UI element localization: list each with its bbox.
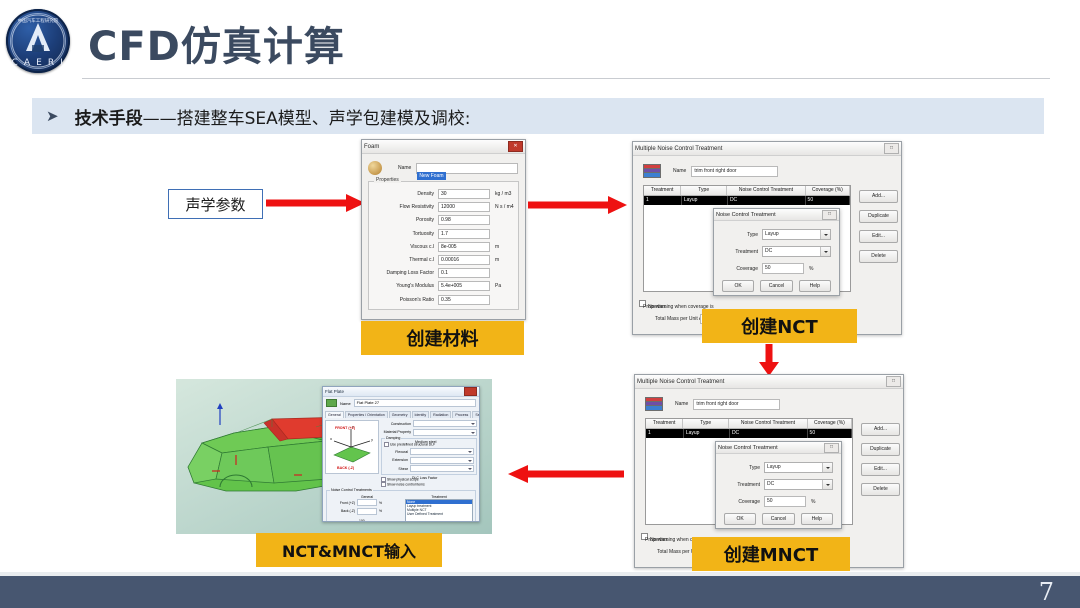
cell-nct: DC [730, 429, 808, 438]
cell-nct: DC [728, 196, 806, 205]
show-nct-items-check[interactable]: Show noise control items [381, 482, 477, 487]
flexural-row: Flexural DLC Loss Factor [384, 448, 474, 455]
flat-plate-name-label: Name [340, 401, 351, 406]
flat-plate-dialog[interactable]: Flat Plate Name Flat Plate 27 General Pr… [322, 386, 480, 522]
foam-properties-label: Properties [374, 177, 401, 183]
checkbox-icon[interactable] [384, 442, 389, 447]
col-header-treatment: Treatment [646, 419, 683, 428]
nct-type-label: Type [722, 232, 762, 238]
cell-treatment: 1 [644, 196, 682, 205]
subtitle-rest: ——搭建整车SEA模型、声学包建模及调校: [143, 109, 471, 129]
nct-treatment-label: Treatment [722, 249, 762, 255]
damping-group: Damping Use predefined structural DLF Fl… [381, 438, 477, 476]
help-button[interactable]: Help [801, 513, 833, 525]
foam-name-input[interactable]: New Foam [416, 163, 518, 174]
cell-coverage: 50 [806, 196, 850, 205]
subtitle-bar: ➤ 技术手段——搭建整车SEA模型、声学包建模及调校: [32, 98, 1044, 134]
foam-dialog-titlebar: Foam ✕ [362, 140, 525, 154]
mnct-name-value: trim front right door [694, 400, 779, 408]
field-unit: m [490, 244, 499, 250]
foam-name-label: Name [398, 165, 411, 171]
cell-type: Layup [682, 196, 728, 205]
show-nct-items-label: Show noise control items [387, 482, 425, 486]
col-header-nct: Noise Control Treatment [729, 419, 808, 428]
nct-coverage-value: 50 [765, 497, 805, 506]
field-unit: kg / m3 [490, 191, 511, 197]
back-coverage-unit: % [379, 509, 382, 513]
close-icon[interactable]: ✕ [508, 141, 523, 152]
nct-coverage-label: Coverage [722, 266, 762, 272]
material-property-row: Material Property Medium steel [381, 429, 477, 436]
front-coverage-unit: % [379, 501, 382, 505]
extension-row: Extension DLC Loss Factor [384, 457, 474, 464]
mnct-side-buttons: Add... Duplicate Edit... Delete [861, 423, 900, 496]
svg-text:C A E R I: C A E R I [12, 58, 65, 68]
bullet-arrow-icon: ➤ [46, 107, 59, 125]
callout-create-nct: 创建NCT [702, 309, 857, 343]
nct-dialog-title: Noise Control Treatment [718, 445, 778, 451]
subtitle-strong: 技术手段 [75, 109, 143, 129]
ok-button[interactable]: OK [724, 513, 756, 525]
field-label: Poisson's Ratio [372, 297, 438, 303]
add-button[interactable]: Add... [861, 423, 900, 436]
plate-icon [326, 399, 337, 407]
flat-plate-nct-group: Noise Control Treatments General Front (… [326, 490, 476, 522]
damping-check[interactable]: Use predefined structural DLF [384, 442, 474, 447]
field-value: 8e-005 [439, 243, 489, 251]
damping-check-label: Use predefined structural DLF [390, 442, 435, 446]
callout-create-material: 创建材料 [361, 321, 524, 355]
mnct-dialog-titlebar: Multiple Noise Control Treatment □ [633, 142, 901, 156]
foam-field-row: Young's Modulus 5.4e+005 Pa [372, 281, 515, 291]
mnct-dialog-titlebar: Multiple Noise Control Treatment □ [635, 375, 903, 389]
field-label: Young's Modulus [372, 283, 438, 289]
edit-button[interactable]: Edit... [861, 463, 900, 476]
field-value: 0.35 [439, 296, 489, 304]
construction-row: Construction Isotropic [381, 420, 477, 427]
foam-field-row: Flow Resistivity 12000 N s / m4 [372, 202, 515, 212]
cancel-button[interactable]: Cancel [760, 280, 792, 292]
col-header-type: Type [681, 186, 727, 195]
shear-select[interactable]: DLC Loss Factor [410, 465, 474, 472]
arrow-down-1 [757, 344, 781, 376]
callout-create-mnct: 创建MNCT [692, 537, 850, 571]
tab-geometry[interactable]: Geometry [389, 411, 411, 418]
nct-type-row: Type Layup [724, 462, 833, 473]
nct-coverage-row: Coverage 50 % [722, 263, 831, 274]
field-input[interactable]: 0.35 [438, 295, 490, 305]
front-axis-label: FRONT (+Z) [335, 426, 355, 430]
shear-label: Shear [384, 467, 410, 471]
nct-dialog-title: Noise Control Treatment [716, 212, 776, 218]
tab-process[interactable]: Process [452, 411, 471, 418]
field-input[interactable]: 0.00016 [438, 255, 490, 265]
foam-dialog[interactable]: Foam ✕ Name New Foam Properties Density … [361, 139, 526, 320]
flat-plate-title: Flat Plate [325, 389, 344, 394]
mnct-name-value: trim front right door [692, 167, 777, 175]
mnct-dialog-title: Multiple Noise Control Treatment [637, 379, 724, 385]
ok-button[interactable]: OK [722, 280, 754, 292]
col-header-coverage: Coverage (%) [808, 419, 852, 428]
nct-button-row: OK Cancel Help [722, 280, 831, 292]
nct-treatment-row: Treatment DC [724, 479, 833, 490]
tab-radiation[interactable]: Radiation [430, 411, 451, 418]
flexural-select[interactable]: DLC Loss Factor [410, 448, 474, 455]
field-unit: Pa [490, 283, 501, 289]
nct-type-select[interactable]: Layup [762, 229, 831, 240]
nct-coverage-row: Coverage 50 % [724, 496, 833, 507]
flat-plate-name-value: Flat Plate 27 [355, 400, 475, 406]
table-row[interactable]: 1 Layup DC 50 [646, 429, 852, 438]
restore-icon[interactable]: □ [824, 443, 839, 453]
mnct-dialog-1[interactable]: Multiple Noise Control Treatment □ Name … [632, 141, 902, 335]
nct-button-row: OK Cancel Help [724, 513, 833, 525]
field-value: 12000 [439, 203, 489, 211]
front-coverage-row: Front (+Z) 100 % [329, 499, 405, 506]
nct-dialog-2[interactable]: Noise Control Treatment □ Type Layup Tre… [715, 441, 842, 529]
construction-select[interactable]: Isotropic [413, 420, 477, 427]
tab-properties-orientation[interactable]: Properties / Orientation [345, 411, 388, 418]
flat-plate-name-input[interactable]: Flat Plate 27 [354, 399, 476, 407]
edit-button[interactable]: Edit... [859, 230, 898, 243]
add-button[interactable]: Add... [859, 190, 898, 203]
cancel-button[interactable]: Cancel [762, 513, 794, 525]
slide: C A E R I 中国汽车工程研究院 CFD仿真计算 ➤ 技术手段——搭建整车… [0, 0, 1080, 608]
nct-coverage-unit: % [811, 499, 815, 505]
back-coverage-input[interactable]: 100 [357, 508, 377, 515]
acoustic-parameters-box: 声学参数 [168, 189, 263, 219]
flexural-label: Flexural [384, 450, 410, 454]
flat-plate-nct-group-label: Noise Control Treatments [330, 488, 373, 492]
field-unit: m [490, 257, 499, 263]
delete-button[interactable]: Delete [859, 250, 898, 263]
col-header-nct: Noise Control Treatment [727, 186, 806, 195]
nct-dialog-titlebar: Noise Control Treatment □ [714, 209, 839, 221]
restore-icon[interactable]: □ [822, 210, 837, 220]
mnct-name-label: Name [673, 168, 686, 174]
header-divider [82, 78, 1050, 79]
nct-coverage-unit: % [809, 266, 813, 272]
restore-icon[interactable]: □ [884, 143, 899, 154]
restore-icon[interactable]: □ [886, 376, 901, 387]
help-button[interactable]: Help [799, 280, 831, 292]
field-input[interactable]: 0.1 [438, 268, 490, 278]
page-number: 7 [1039, 578, 1054, 606]
back-coverage-row: Back (-Z) 100 % [329, 508, 405, 515]
nct-treatment-select[interactable]: DC [764, 479, 833, 490]
extension-label: Extension [384, 458, 410, 462]
treatment-listbox[interactable]: None Layup treatment Multiple NCT User D… [405, 499, 473, 522]
arrow-right-2 [528, 194, 628, 216]
shear-value: DLC Loss Factor [411, 476, 437, 480]
nct-treatment-label: Treatment [724, 482, 764, 488]
page-title: CFD仿真计算 [88, 14, 345, 72]
nct-type-label: Type [724, 465, 764, 471]
shear-row: Shear DLC Loss Factor [384, 465, 474, 472]
field-unit: N s / m4 [490, 204, 514, 210]
slide-header: C A E R I 中国汽车工程研究院 CFD仿真计算 [0, 0, 1080, 84]
mnct-name-label: Name [675, 401, 688, 407]
table-header-row: Treatment Type Noise Control Treatment C… [644, 186, 850, 196]
total-mass-label: Total Mass per Unit Area [655, 317, 697, 322]
foam-dialog-title: Foam [364, 144, 379, 150]
field-input[interactable]: 8e-005 [438, 242, 490, 252]
foam-dialog-body: Name New Foam Properties Density 30 kg /… [362, 154, 525, 314]
field-value: 0.98 [439, 216, 489, 224]
nct-treatment-row: Treatment DC [722, 246, 831, 257]
checkbox-icon[interactable] [381, 482, 386, 487]
list-item[interactable]: User Defined Treatment [406, 512, 472, 516]
callout-nct-mnct-input: NCT&MNCT输入 [256, 533, 442, 567]
mnct-properties-label: Properties [645, 537, 668, 543]
cell-coverage: 50 [808, 429, 852, 438]
field-input[interactable]: 12000 [438, 202, 490, 212]
mnct-properties-label: Properties [643, 304, 666, 310]
field-label: Tortuosity [372, 231, 438, 237]
back-axis-label: BACK (-Z) [337, 466, 354, 470]
nct-dialog-1[interactable]: Noise Control Treatment □ Type Layup Tre… [713, 208, 840, 296]
foam-field-row: Porosity 0.98 [372, 215, 515, 225]
duplicate-button[interactable]: Duplicate [861, 443, 900, 456]
slide-footer: 7 [0, 576, 1080, 608]
mnct-side-buttons: Add... Duplicate Edit... Delete [859, 190, 898, 263]
nct-coverage-value: 50 [763, 264, 803, 273]
nct-treatment-select[interactable]: DC [762, 246, 831, 257]
foam-field-row: Poisson's Ratio 0.35 [372, 295, 515, 305]
arrow-left-1 [504, 462, 624, 486]
field-input[interactable]: 0.98 [438, 215, 490, 225]
svg-text:y: y [371, 438, 374, 442]
material-property-select[interactable]: Medium steel [413, 429, 477, 436]
nct-type-row: Type Layup [722, 229, 831, 240]
duplicate-button[interactable]: Duplicate [859, 210, 898, 223]
plate-orientation-preview: z y x FRONT (+Z) BACK (-Z) [325, 420, 379, 474]
layup-stack-icon [643, 164, 659, 178]
layup-stack-icon [645, 397, 661, 411]
field-value: 5.4e+005 [439, 282, 489, 290]
col-header-type: Type [683, 419, 729, 428]
mnct-name-input[interactable]: trim front right door [693, 399, 780, 410]
foam-name-value: New Foam [417, 172, 445, 180]
field-label: Density [372, 191, 438, 197]
extension-select[interactable]: DLC Loss Factor [410, 457, 474, 464]
foam-field-row: Thermal c.l 0.00016 m [372, 255, 515, 265]
nct-type-select[interactable]: Layup [764, 462, 833, 473]
cell-type: Layup [684, 429, 730, 438]
flat-plate-titlebar: Flat Plate [323, 387, 479, 397]
mnct-dialog-title: Multiple Noise Control Treatment [635, 146, 722, 152]
nct-coverage-input[interactable]: 50 [762, 263, 804, 274]
field-input[interactable]: 30 [438, 189, 490, 199]
field-value: 30 [439, 190, 489, 198]
table-row[interactable]: 1 Layup DC 50 [644, 196, 850, 205]
field-value: 0.00016 [439, 256, 489, 264]
cell-treatment: 1 [646, 429, 684, 438]
nct-coverage-input[interactable]: 50 [764, 496, 806, 507]
arrow-right-1 [266, 192, 366, 214]
svg-text:中国汽车工程研究院: 中国汽车工程研究院 [18, 17, 59, 24]
close-icon[interactable] [464, 387, 477, 396]
flat-plate-tabs: General Properties / Orientation Geometr… [323, 409, 479, 418]
damping-label: Damping [385, 436, 401, 440]
subtitle-text: 技术手段——搭建整车SEA模型、声学包建模及调校: [75, 104, 471, 129]
field-label: Thermal c.l [372, 257, 438, 263]
tab-general[interactable]: General [325, 411, 344, 418]
caeri-logo-icon: C A E R I 中国汽车工程研究院 [6, 9, 70, 73]
field-value: 0.1 [439, 269, 489, 277]
mnct-name-input[interactable]: trim front right door [691, 166, 778, 177]
field-input[interactable]: 5.4e+005 [438, 281, 490, 291]
material-property-label: Material Property [381, 430, 413, 434]
foam-field-row: Tortuosity 1.7 [372, 229, 515, 239]
nct-dialog-titlebar: Noise Control Treatment □ [716, 442, 841, 454]
table-header-row: Treatment Type Noise Control Treatment C… [646, 419, 852, 429]
svg-text:x: x [330, 437, 333, 441]
tab-setflows[interactable]: Setflows [472, 411, 480, 418]
construction-label: Construction [381, 422, 413, 426]
foam-properties-group: Properties Density 30 kg / m3 Flow Resis… [368, 181, 519, 310]
col-header-treatment: Treatment [644, 186, 681, 195]
tab-identity[interactable]: Identity [412, 411, 430, 418]
front-coverage-label: Front (+Z) [329, 501, 357, 505]
field-label: Damping Loss Factor [372, 270, 438, 276]
back-coverage-label: Back (-Z) [329, 509, 357, 513]
nct-coverage-label: Coverage [724, 499, 764, 505]
field-input[interactable]: 1.7 [438, 229, 490, 239]
field-label: Porosity [372, 217, 438, 223]
front-coverage-input[interactable]: 100 [357, 499, 377, 506]
delete-button[interactable]: Delete [861, 483, 900, 496]
foam-field-row: Viscous c.l 8e-005 m [372, 242, 515, 252]
field-label: Viscous c.l [372, 244, 438, 250]
foam-material-icon [368, 161, 382, 175]
foam-field-row: Density 30 kg / m3 [372, 189, 515, 199]
field-value: 1.7 [439, 230, 489, 238]
back-coverage-value: 100 [358, 519, 365, 523]
col-header-coverage: Coverage (%) [806, 186, 850, 195]
field-label: Flow Resistivity [372, 204, 438, 210]
foam-field-row: Damping Loss Factor 0.1 [372, 268, 515, 278]
